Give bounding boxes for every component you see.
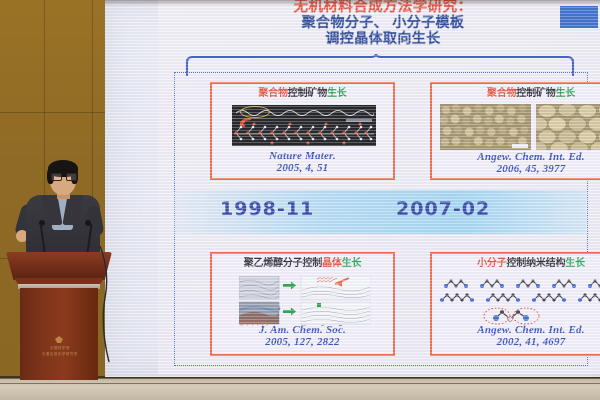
citation-detail: 2002, 41, 4697 — [432, 336, 600, 348]
heading-part-black: 控制矿物 — [288, 88, 327, 99]
heading-part-black: 控制纳米结构 — [506, 258, 565, 269]
microphone-cable — [96, 246, 118, 366]
journal-name: Angew. Chem. Int. Ed. — [432, 324, 600, 336]
podium-logo-text-line2: 长春应用化学研究所 — [38, 352, 82, 358]
journal-name: J. Am. Chem. Soc. — [212, 324, 393, 336]
heading-part-green: 生长 — [556, 88, 576, 99]
slide-title-line3: 调控晶体取向生长 — [218, 31, 548, 47]
scale-bar — [512, 144, 528, 148]
timeline-date-1: 1998-11 — [220, 198, 314, 220]
heading-part-black: 聚乙烯醇分子控制 — [244, 258, 322, 269]
content-box-top-right: 聚合物控制矿物生长 — [430, 82, 600, 180]
podium-logo-text: 中国科学院 长春应用化学研究所 — [38, 346, 82, 358]
glasses-icon — [51, 173, 75, 179]
heading-part-red: 聚合物 — [487, 88, 516, 99]
content-box-bottom-left: 聚乙烯醇分子控制晶体生长 — [210, 252, 395, 356]
heading-part-red: 小分子 — [477, 258, 506, 269]
box-heading-top-right: 聚合物控制矿物生长 — [432, 89, 600, 99]
box-heading-bottom-left: 聚乙烯醇分子控制晶体生长 — [212, 259, 393, 269]
heading-part-red: 晶体 — [322, 258, 342, 269]
podium-body: 中国科学院 长春应用化学研究所 — [20, 288, 98, 380]
citation-top-right: Angew. Chem. Int. Ed. 2006, 45, 3977 — [432, 151, 600, 175]
figure-sem-micrographs — [440, 104, 600, 150]
timeline-date-2: 2007-02 — [396, 198, 490, 220]
photo-scene: 无机材料合成方法学研究： 聚合物分子、 小分子模板 调控晶体取向生长 1998-… — [0, 0, 600, 400]
sem-image-left — [440, 104, 531, 150]
citation-top-left: Nature Mater. 2005, 4, 51 — [212, 150, 393, 174]
content-box-top-left: 聚合物控制矿物生长 — [210, 82, 395, 180]
citation-detail: 2005, 4, 51 — [212, 162, 393, 174]
citation-bottom-left: J. Am. Chem. Soc. 2005, 127, 2822 — [212, 324, 393, 348]
journal-name: Angew. Chem. Int. Ed. — [432, 151, 600, 163]
presentation-slide: 无机材料合成方法学研究： 聚合物分子、 小分子模板 调控晶体取向生长 1998-… — [158, 0, 600, 374]
heading-part-red: 聚合物 — [258, 88, 287, 99]
content-box-bottom-right: 小分子控制纳米结构生长 — [430, 252, 600, 356]
heading-part-green: 生长 — [327, 88, 347, 99]
box-heading-bottom-right: 小分子控制纳米结构生长 — [432, 259, 600, 269]
blue-decoration-block — [560, 6, 598, 28]
podium-logo-icon — [42, 336, 76, 345]
screen-top-shadow — [105, 0, 600, 6]
figure-crystal-growth-schematic — [239, 276, 371, 326]
figure-molecular-dark-panel — [232, 105, 376, 146]
slide-title: 无机材料合成方法学研究： 聚合物分子、 小分子模板 调控晶体取向生长 — [218, 0, 548, 47]
citation-bottom-right: Angew. Chem. Int. Ed. 2002, 41, 4697 — [432, 324, 600, 348]
projection-screen: 无机材料合成方法学研究： 聚合物分子、 小分子模板 调控晶体取向生长 1998-… — [105, 0, 600, 377]
citation-detail: 2006, 45, 3977 — [432, 163, 600, 175]
citation-detail: 2005, 127, 2822 — [212, 336, 393, 348]
heading-part-green: 生长 — [342, 258, 362, 269]
slide-title-line2: 聚合物分子、 小分子模板 — [218, 15, 548, 31]
sem-image-right — [536, 104, 600, 150]
heading-part-black: 控制矿物 — [516, 88, 555, 99]
journal-name: Nature Mater. — [212, 150, 393, 162]
box-heading-top-left: 聚合物控制矿物生长 — [212, 89, 393, 99]
heading-part-green: 生长 — [565, 258, 585, 269]
floor-edge-line — [0, 383, 600, 384]
